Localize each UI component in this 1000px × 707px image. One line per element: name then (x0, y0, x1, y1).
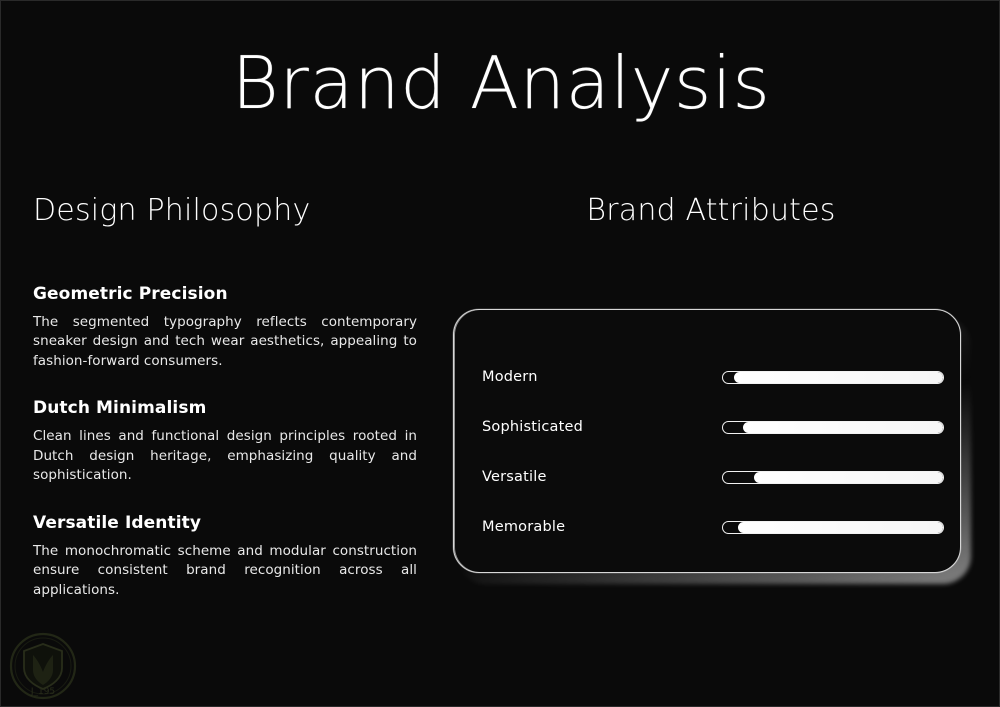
attribute-label: Sophisticated (482, 419, 722, 435)
svg-text:J_195: J_195 (30, 687, 55, 697)
attribute-progress-track (722, 521, 944, 534)
attribute-row: Versatile (482, 452, 948, 502)
design-philosophy-heading: Design Philosophy (33, 194, 417, 229)
philosophy-item-title: Versatile Identity (33, 513, 417, 533)
brand-attributes-card-wrapper: Modern Sophisticated Versatile (453, 309, 971, 584)
philosophy-item-body: Clean lines and functional design princi… (33, 427, 417, 486)
attribute-row: Sophisticated (482, 402, 948, 452)
attribute-progress-fill (754, 472, 943, 483)
brand-attributes-column: Brand Attributes (451, 194, 971, 229)
philosophy-item-title: Dutch Minimalism (33, 398, 417, 418)
design-philosophy-column: Design Philosophy Geometric Precision Th… (33, 194, 417, 601)
attribute-rows: Modern Sophisticated Versatile (482, 352, 948, 552)
list-item: Geometric Precision The segmented typogr… (33, 284, 417, 372)
philosophy-list: Geometric Precision The segmented typogr… (33, 284, 417, 601)
slide-canvas: Brand Analysis Design Philosophy Geometr… (0, 0, 1000, 707)
brand-attributes-heading: Brand Attributes (451, 194, 971, 229)
attribute-label: Memorable (482, 519, 722, 535)
attribute-progress-fill (734, 372, 943, 383)
attribute-row: Memorable (482, 502, 948, 552)
attribute-label: Modern (482, 369, 722, 385)
attribute-progress-track (722, 421, 944, 434)
attribute-label: Versatile (482, 469, 722, 485)
philosophy-item-title: Geometric Precision (33, 284, 417, 304)
philosophy-item-body: The segmented typography reflects contem… (33, 313, 417, 372)
attribute-progress-track (722, 471, 944, 484)
attribute-row: Modern (482, 352, 948, 402)
list-item: Versatile Identity The monochromatic sch… (33, 513, 417, 601)
brand-attributes-card: Modern Sophisticated Versatile (453, 309, 961, 573)
shield-logo-watermark-icon: J_195 (7, 630, 79, 702)
attribute-progress-fill (738, 522, 943, 533)
philosophy-item-body: The monochromatic scheme and modular con… (33, 542, 417, 601)
attribute-progress-track (722, 371, 944, 384)
list-item: Dutch Minimalism Clean lines and functio… (33, 398, 417, 486)
page-title: Brand Analysis (1, 47, 1000, 119)
attribute-progress-fill (743, 422, 943, 433)
